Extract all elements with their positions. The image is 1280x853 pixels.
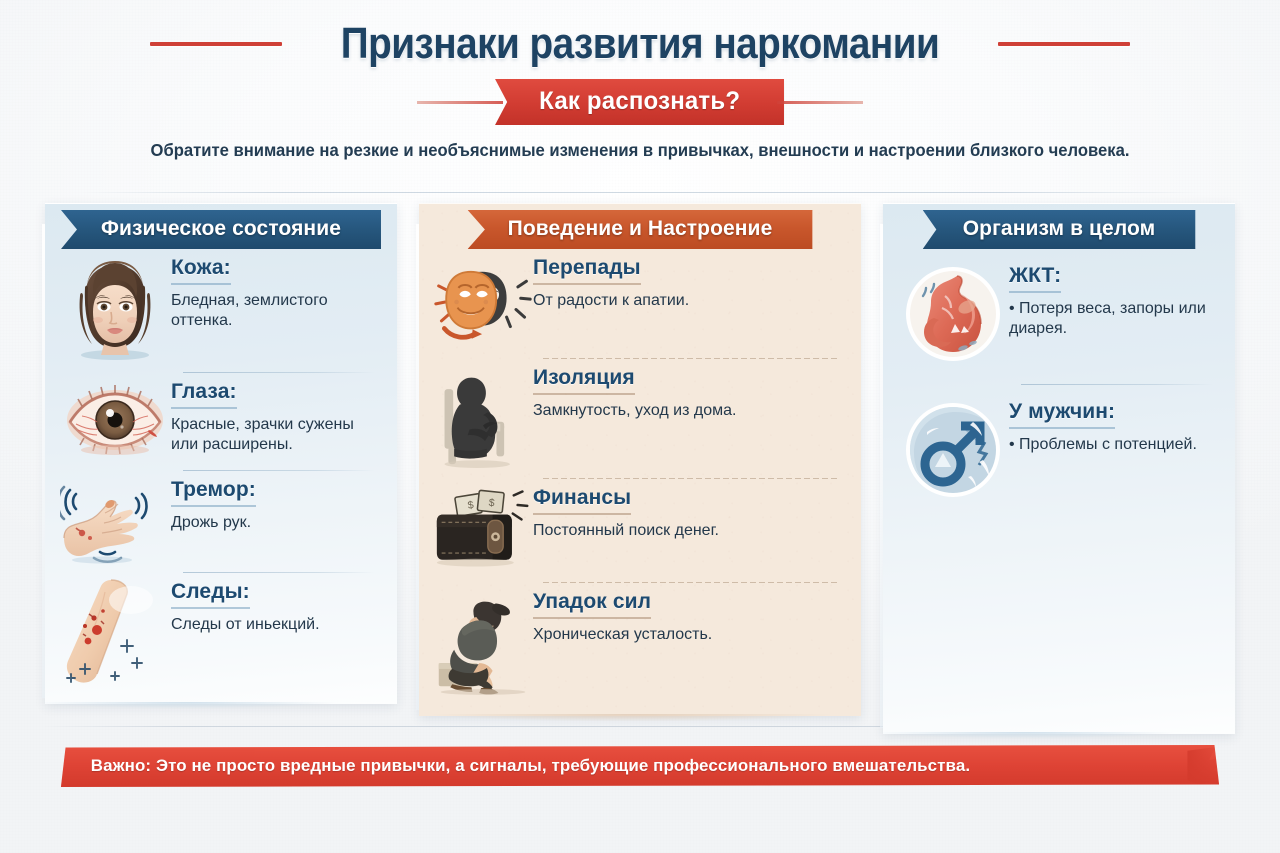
row-skin: Кожа: Бледная, землистого оттенка. [59, 248, 381, 372]
row-desc: Постоянный поиск денег. [533, 521, 845, 541]
header-divider [80, 192, 1200, 193]
exhausted-man-icon [433, 588, 533, 696]
person-sitting-chair-icon [433, 364, 533, 470]
row-text: Кожа: Бледная, землистого оттенка. [171, 254, 381, 332]
title-rule-left [150, 42, 282, 46]
ribbon-physical: Физическое состояние [61, 210, 381, 249]
how-to-recognize-ribbon: Как распознать? [495, 79, 784, 125]
row-title: Тремор: [171, 478, 256, 507]
ribbon-physical-label: Физическое состояние [101, 217, 341, 240]
rows-behavior: Перепады От радости к апатии. [433, 248, 845, 704]
stomach-icon [897, 262, 1009, 366]
wallet-money-icon: $ $ [433, 484, 533, 574]
column-physical: Физическое состояние [45, 203, 397, 704]
row-title: Кожа: [171, 256, 231, 285]
row-title: Глаза: [171, 380, 237, 409]
title-row: Признаки развития наркомании [0, 14, 1280, 74]
rows-physical: Кожа: Бледная, землистого оттенка. [59, 248, 381, 692]
row-title: Упадок сил [533, 590, 651, 619]
ribbon-tail-notch [1173, 210, 1195, 249]
rows-organism: ЖКТ: • Потеря веса, запоры или диарея. [897, 248, 1219, 520]
row-men: У мужчин: • Проблемы с потенцией. [897, 384, 1219, 520]
row-title: ЖКТ: [1009, 264, 1061, 293]
injection-marks-arm-icon [59, 578, 171, 684]
ribbon-organism-label: Организм в целом [963, 217, 1156, 240]
important-banner: Важно: Это не просто вредные привычки, а… [61, 745, 1219, 787]
card-organism: Организм в целом [883, 203, 1235, 734]
row-title: Изоляция [533, 366, 635, 395]
row-text: У мужчин: • Проблемы с потенцией. [1009, 398, 1219, 455]
card-physical: Физическое состояние [45, 203, 397, 704]
row-isolation: Изоляция Замкнутость, уход из дома. [433, 358, 845, 478]
title-rule-right [998, 42, 1130, 46]
ribbon-tail-notch [359, 210, 381, 249]
infographic-poster: Признаки развития наркомании Как распозн… [0, 0, 1280, 853]
poster-header: Признаки развития наркомании Как распозн… [0, 0, 1280, 161]
row-separator [543, 478, 839, 479]
row-separator [543, 358, 839, 359]
subtitle-rule-left [417, 101, 503, 104]
column-organism: Организм в целом [883, 203, 1235, 734]
row-desc: От радости к апатии. [533, 291, 845, 311]
row-desc: Хроническая усталость. [533, 625, 845, 645]
row-finances: $ $ [433, 478, 845, 582]
row-separator [1021, 384, 1213, 385]
trembling-hand-icon [59, 476, 171, 564]
row-text: Перепады От радости к апатии. [533, 254, 845, 311]
row-desc: Замкнутость, уход из дома. [533, 401, 845, 421]
row-desc: Красные, зрачки сужены или расширены. [171, 415, 381, 456]
columns-container: Физическое состояние [0, 203, 1280, 734]
card-edge-highlight [416, 224, 419, 710]
ribbon-organism: Организм в целом [923, 210, 1196, 249]
row-eyes: Глаза: Красные, зрачки сужены или расшир… [59, 372, 381, 470]
row-marks: Следы: Следы от иньекций. [59, 572, 381, 692]
card-edge-highlight [880, 224, 883, 728]
row-mood-swings: Перепады От радости к апатии. [433, 248, 845, 358]
row-separator [183, 572, 375, 573]
row-desc: Бледная, землистого оттенка. [171, 291, 381, 332]
row-exhaustion: Упадок сил Хроническая усталость. [433, 582, 845, 704]
row-text: Изоляция Замкнутость, уход из дома. [533, 364, 845, 421]
row-desc: Дрожь рук. [171, 513, 381, 533]
woman-face-icon [59, 254, 171, 364]
row-separator [183, 470, 375, 471]
row-tremor: Тремор: Дрожь рук. [59, 470, 381, 572]
row-text: Глаза: Красные, зрачки сужены или расшир… [171, 378, 381, 456]
page-title: Признаки развития наркомании [341, 19, 939, 69]
subtitle-rule-right [777, 101, 863, 104]
row-title: У мужчин: [1009, 400, 1115, 429]
row-desc: • Проблемы с потенцией. [1009, 435, 1219, 455]
row-title: Перепады [533, 256, 641, 285]
row-title: Финансы [533, 486, 631, 515]
row-desc: • Потеря веса, запоры или диарея. [1009, 299, 1219, 340]
row-text: Тремор: Дрожь рук. [171, 476, 381, 533]
row-text: Следы: Следы от иньекций. [171, 578, 381, 635]
column-behavior: Поведение и Настроение [419, 203, 861, 716]
row-separator [543, 582, 839, 583]
theatre-masks-icon [433, 254, 533, 350]
row-text: ЖКТ: • Потеря веса, запоры или диарея. [1009, 262, 1219, 340]
male-symbol-icon [897, 398, 1009, 502]
row-title: Следы: [171, 580, 250, 609]
row-separator [183, 372, 375, 373]
intro-text: Обратите внимание на резкие и необъясним… [32, 140, 1248, 161]
card-edge-highlight [42, 224, 45, 698]
ribbon-behavior: Поведение и Настроение [468, 210, 813, 249]
card-behavior: Поведение и Настроение [419, 203, 861, 716]
row-text: Финансы Постоянный поиск денег. [533, 484, 845, 541]
row-desc: Следы от иньекций. [171, 615, 381, 635]
important-banner-text: Важно: Это не просто вредные привычки, а… [91, 756, 970, 776]
ribbon-behavior-label: Поведение и Настроение [508, 217, 773, 240]
row-text: Упадок сил Хроническая усталость. [533, 588, 845, 645]
how-to-recognize-label: Как распознать? [540, 87, 741, 115]
row-gastro: ЖКТ: • Потеря веса, запоры или диарея. [897, 248, 1219, 384]
bloodshot-eye-icon [59, 378, 171, 462]
subtitle-ribbon-row: Как распознать? [0, 80, 1280, 124]
ribbon-tail-notch [790, 210, 812, 249]
